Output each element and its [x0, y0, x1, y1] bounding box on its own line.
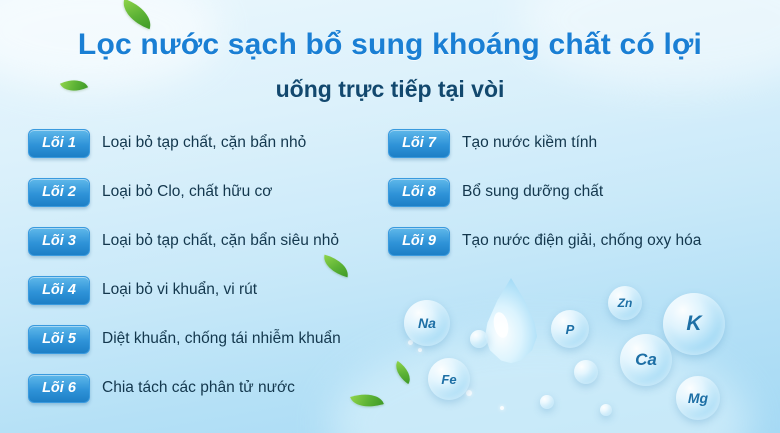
- page-title: Lọc nước sạch bổ sung khoáng chất có lợi: [0, 28, 780, 62]
- list-item-label: Loại bỏ Clo, chất hữu cơ: [102, 183, 272, 201]
- bubble-decor: [574, 360, 598, 384]
- list-item-label: Diệt khuẩn, chống tái nhiễm khuẩn: [102, 330, 341, 348]
- list-item: Lõi 1 Loại bỏ tạp chất, cặn bẩn nhỏ: [28, 128, 378, 158]
- bubble-decor: [540, 395, 554, 409]
- bubble-decor: [470, 330, 488, 348]
- list-item: Lõi 9 Tạo nước điện giải, chống oxy hóa: [388, 226, 768, 256]
- sparkle-icon: [466, 390, 472, 396]
- mineral-bubble-fe: Fe: [428, 358, 470, 400]
- mineral-bubble-p: P: [551, 310, 589, 348]
- list-item-label: Loại bỏ tạp chất, cặn bẩn siêu nhỏ: [102, 232, 339, 250]
- mineral-bubble-k: K: [663, 293, 725, 355]
- list-item: Lõi 8 Bổ sung dưỡng chất: [388, 177, 768, 207]
- list-item-label: Loại bỏ vi khuẩn, vi rút: [102, 281, 257, 299]
- stage-badge: Lõi 1: [28, 129, 90, 158]
- stage-badge: Lõi 3: [28, 227, 90, 256]
- list-item: Lõi 5 Diệt khuẩn, chống tái nhiễm khuẩn: [28, 324, 378, 354]
- bubble-decor: [600, 404, 612, 416]
- list-item-label: Chia tách các phân tử nước: [102, 379, 295, 397]
- page-subtitle: uống trực tiếp tại vòi: [0, 76, 780, 103]
- list-item: Lõi 7 Tạo nước kiềm tính: [388, 128, 768, 158]
- stage-badge: Lõi 2: [28, 178, 90, 207]
- sparkle-icon: [500, 406, 504, 410]
- feature-list-left: Lõi 1 Loại bỏ tạp chất, cặn bẩn nhỏ Lõi …: [28, 128, 378, 422]
- stage-badge: Lõi 4: [28, 276, 90, 305]
- list-item: Lõi 2 Loại bỏ Clo, chất hữu cơ: [28, 177, 378, 207]
- stage-badge: Lõi 5: [28, 325, 90, 354]
- stage-badge: Lõi 6: [28, 374, 90, 403]
- stage-badge: Lõi 8: [388, 178, 450, 207]
- stage-badge: Lõi 7: [388, 129, 450, 158]
- mineral-bubble-na: Na: [404, 300, 450, 346]
- stage-badge: Lõi 9: [388, 227, 450, 256]
- list-item-label: Bổ sung dưỡng chất: [462, 183, 603, 201]
- list-item-label: Loại bỏ tạp chất, cặn bẩn nhỏ: [102, 134, 306, 152]
- mineral-bubble-ca: Ca: [620, 334, 672, 386]
- poster-canvas: Lọc nước sạch bổ sung khoáng chất có lợi…: [0, 0, 780, 433]
- list-item: Lõi 4 Loại bỏ vi khuẩn, vi rút: [28, 275, 378, 305]
- list-item: Lõi 6 Chia tách các phân tử nước: [28, 373, 378, 403]
- feature-list-right: Lõi 7 Tạo nước kiềm tính Lõi 8 Bổ sung d…: [388, 128, 768, 275]
- sparkle-icon: [418, 348, 422, 352]
- mineral-bubble-zn: Zn: [608, 286, 642, 320]
- list-item-label: Tạo nước kiềm tính: [462, 134, 597, 152]
- mineral-bubble-mg: Mg: [676, 376, 720, 420]
- list-item: Lõi 3 Loại bỏ tạp chất, cặn bẩn siêu nhỏ: [28, 226, 378, 256]
- list-item-label: Tạo nước điện giải, chống oxy hóa: [462, 232, 701, 250]
